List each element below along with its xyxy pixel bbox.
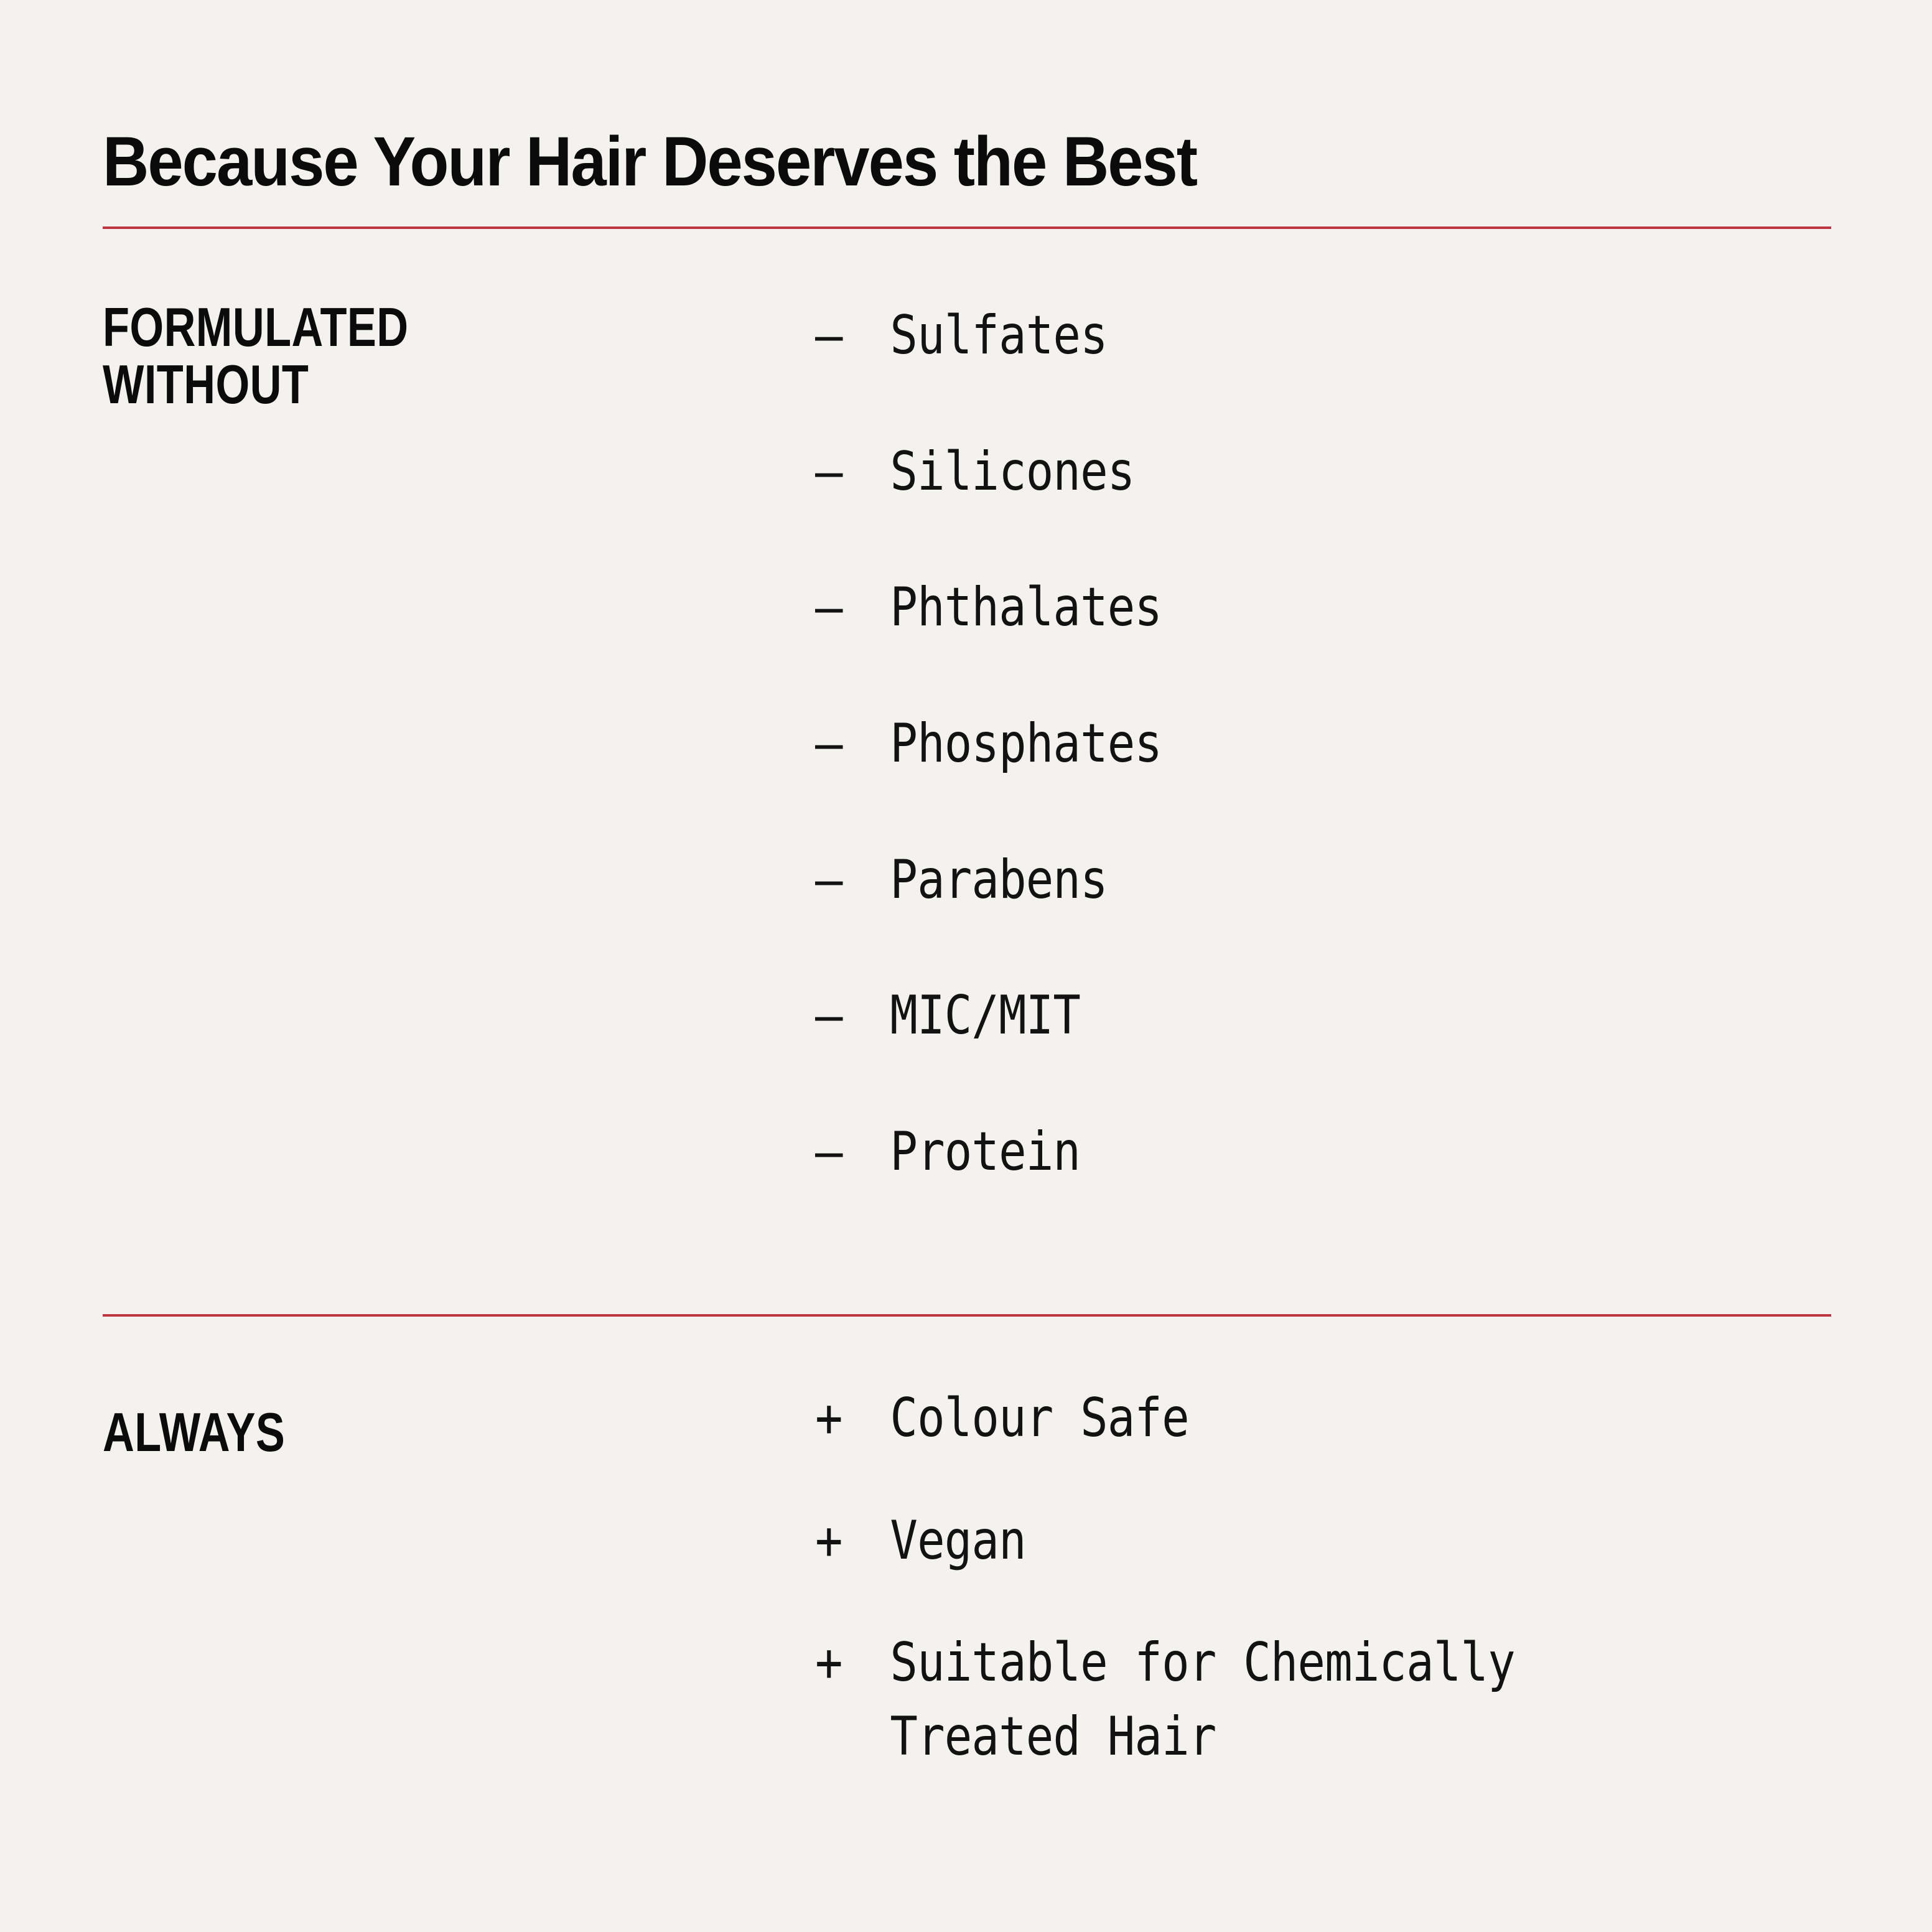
- list-item: — Protein: [815, 1115, 1692, 1189]
- minus-icon: —: [815, 571, 869, 645]
- list-item-label: Suitable for Chemically Treated Hair: [890, 1631, 1514, 1768]
- product-claims-card: Because Your Hair Deserves the Best FORM…: [0, 0, 1932, 1932]
- list-item-label: Sulfates: [890, 304, 1107, 366]
- divider-middle: [103, 1314, 1831, 1317]
- minus-icon: —: [815, 435, 869, 509]
- list-item: — Phthalates: [815, 571, 1692, 645]
- list-item: — MIC/MIT: [815, 979, 1692, 1053]
- page-title: Because Your Hair Deserves the Best: [103, 126, 1694, 197]
- list-item-label: Phthalates: [890, 576, 1162, 638]
- list-item: + Vegan: [815, 1504, 1692, 1578]
- list-always: + Colour Safe + Vegan + Suitable for Che…: [815, 1381, 1836, 1822]
- minus-icon: —: [815, 843, 869, 917]
- plus-icon: +: [815, 1504, 869, 1578]
- list-item: — Phosphates: [815, 707, 1692, 781]
- list-formulated-without: — Sulfates — Silicones — Phthalates — Ph…: [815, 299, 1836, 1189]
- plus-icon: +: [815, 1626, 869, 1700]
- list-item-label: Parabens: [890, 849, 1107, 911]
- section-label-always: ALWAYS: [103, 1404, 640, 1461]
- list-item: — Silicones: [815, 435, 1692, 509]
- list-item: + Suitable for Chemically Treated Hair: [815, 1626, 1692, 1773]
- minus-icon: —: [815, 979, 869, 1053]
- list-item-label: Protein: [890, 1121, 1080, 1183]
- list-item-label: Phosphates: [890, 712, 1162, 775]
- minus-icon: —: [815, 707, 869, 781]
- list-item: — Sulfates: [815, 299, 1692, 373]
- minus-icon: —: [815, 299, 869, 373]
- list-item-label: MIC/MIT: [890, 984, 1080, 1047]
- list-item-label: Colour Safe: [890, 1387, 1188, 1449]
- list-item: — Parabens: [815, 843, 1692, 917]
- divider-top: [103, 226, 1831, 229]
- list-item: + Colour Safe: [815, 1381, 1692, 1455]
- plus-icon: +: [815, 1381, 869, 1455]
- list-item-label: Silicones: [890, 441, 1134, 503]
- list-item-label: Vegan: [890, 1510, 1025, 1572]
- minus-icon: —: [815, 1115, 869, 1189]
- section-label-formulated-without: FORMULATED WITHOUT: [103, 299, 640, 413]
